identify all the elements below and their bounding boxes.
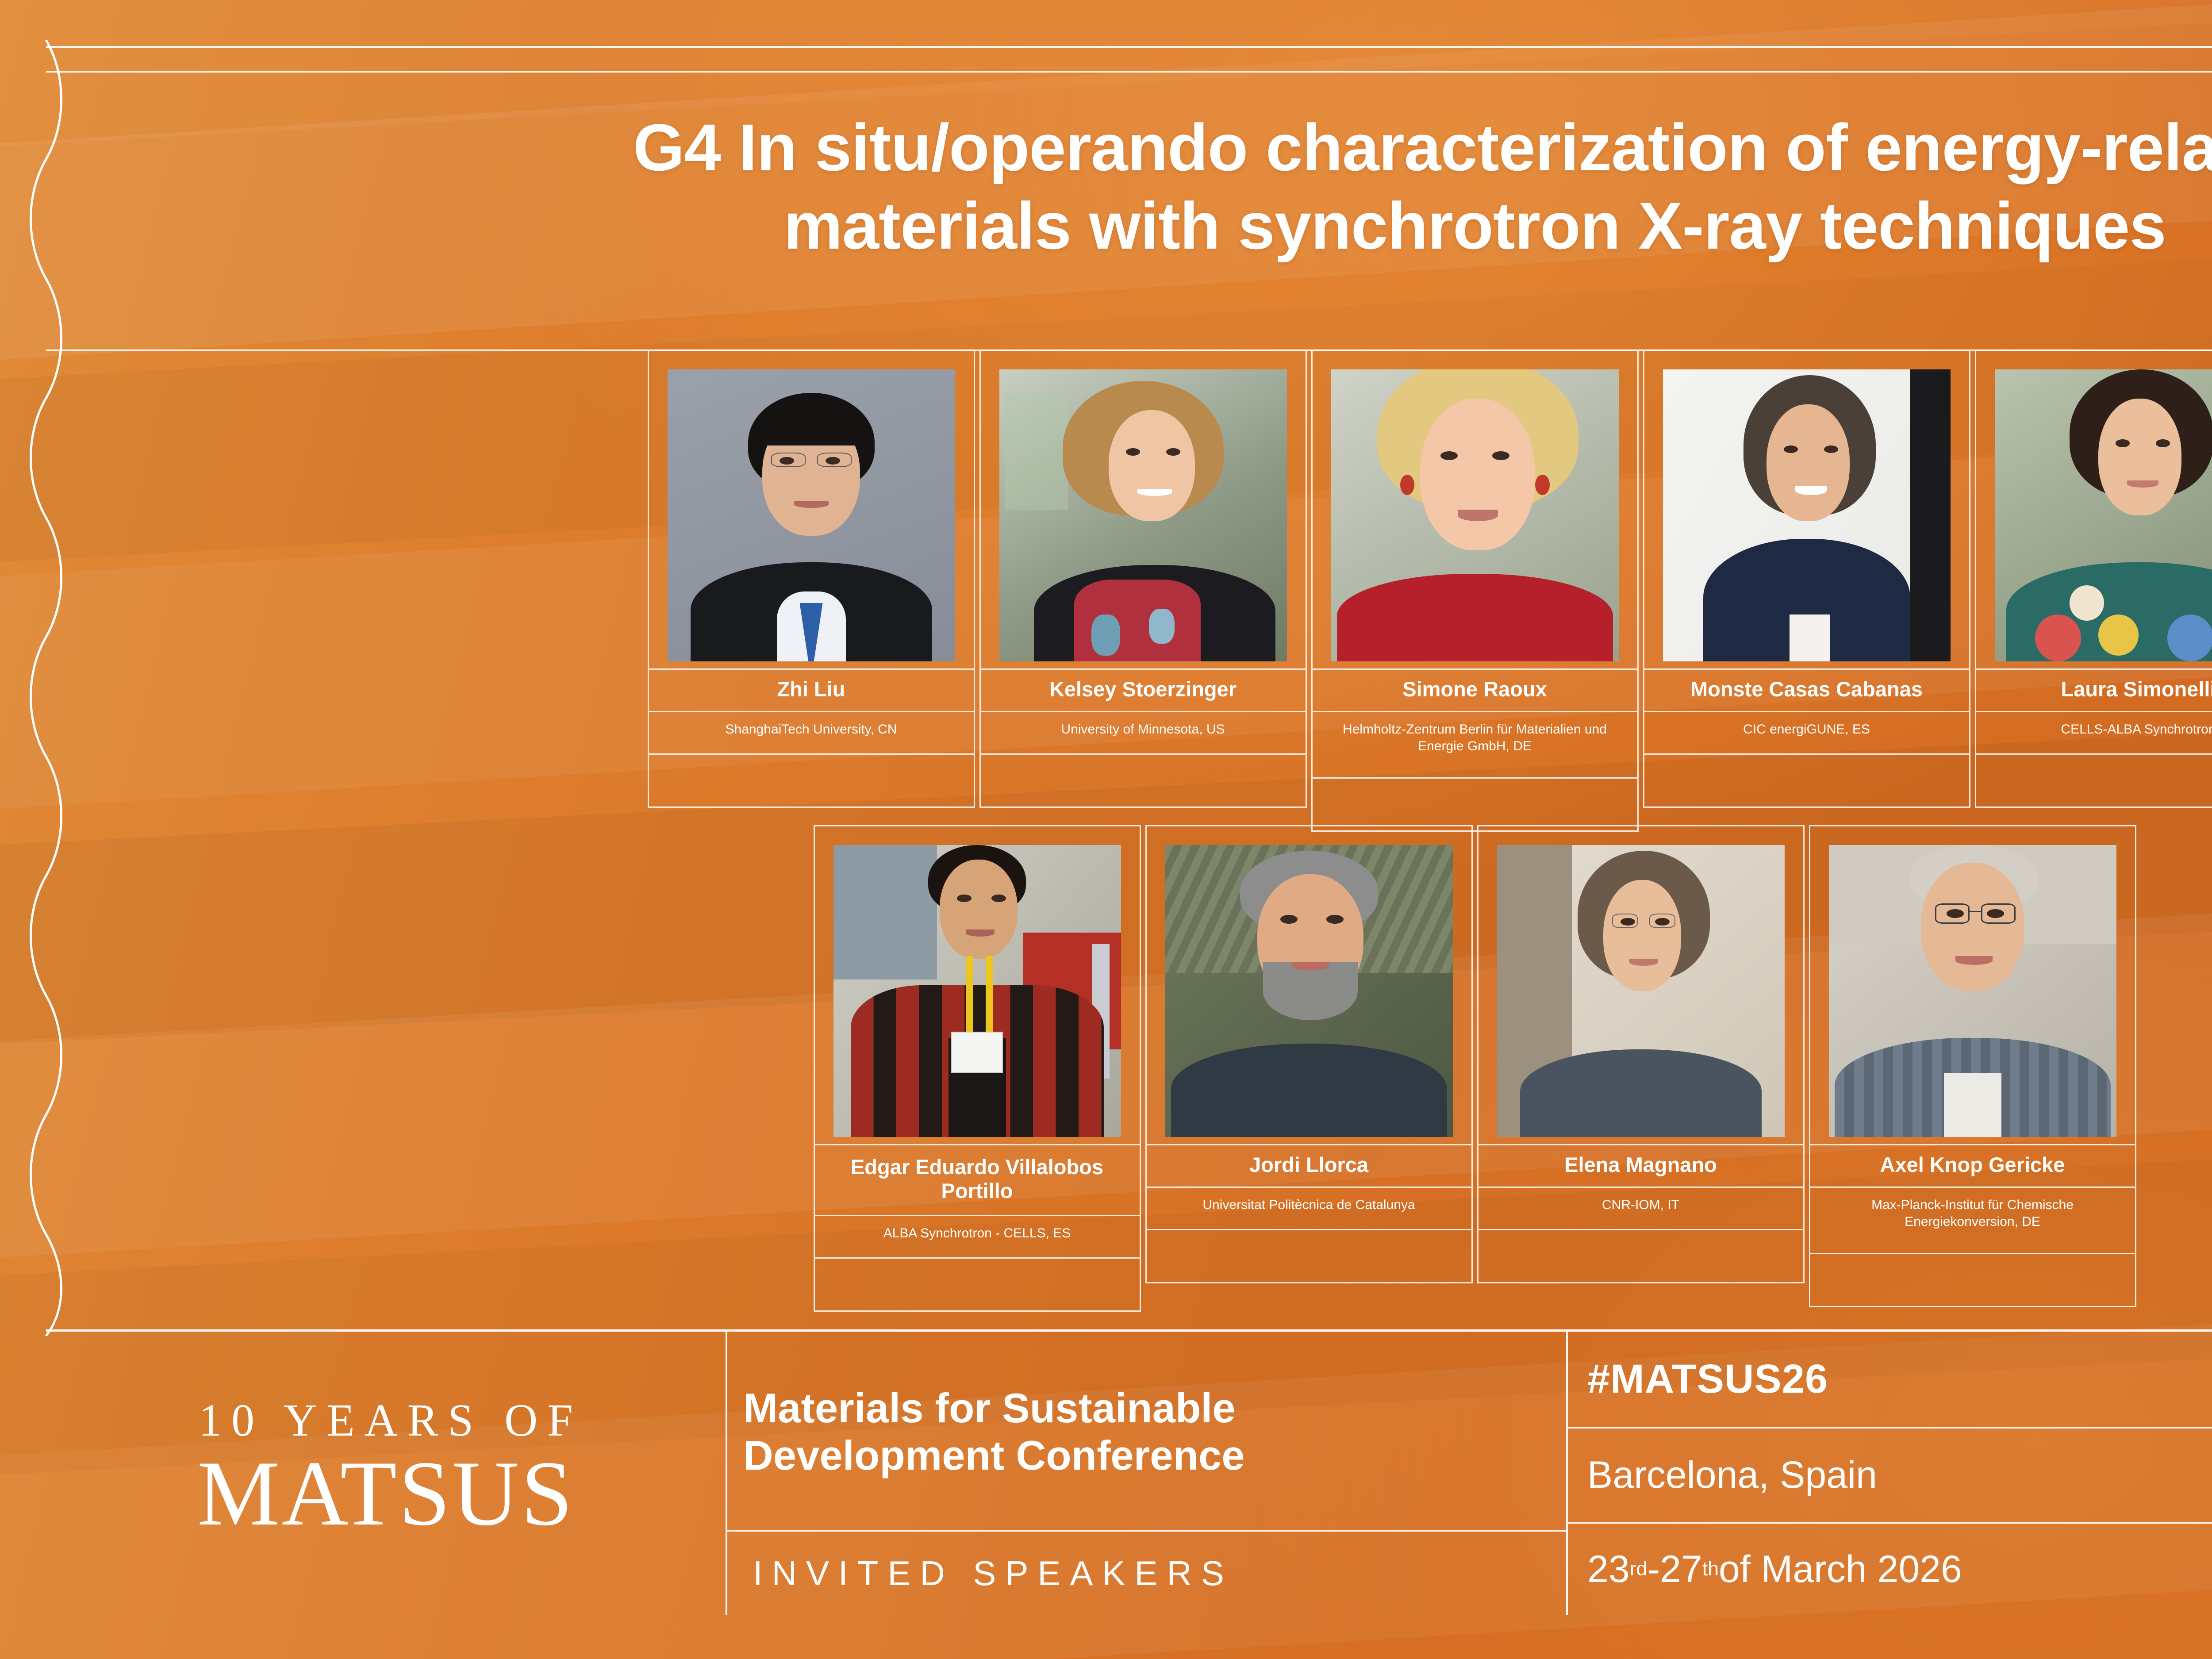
speaker-affiliation: CNR-IOM, IT — [1479, 1187, 1803, 1229]
speaker-card[interactable]: Jordi Llorca Universitat Politècnica de … — [1145, 825, 1473, 1283]
card-footer-space — [1976, 753, 2212, 806]
conference-name-column: Materials for Sustainable Development Co… — [727, 1332, 1568, 1615]
card-footer-space — [981, 753, 1306, 806]
session-title-line-2: materials with synchrotron X-ray techniq… — [435, 187, 2212, 265]
event-info-column: #MATSUS26 Barcelona, Spain 23rd - 27th o… — [1568, 1332, 2212, 1615]
card-footer-space — [649, 753, 974, 806]
speaker-photo — [1497, 845, 1785, 1137]
event-dates: 23rd - 27th of March 2026 — [1568, 1522, 2212, 1615]
speaker-card[interactable]: Kelsey Stoerzinger University of Minneso… — [979, 349, 1307, 808]
card-footer-space — [1147, 1229, 1471, 1282]
speaker-affiliation: CELLS-ALBA Synchrotron — [1976, 711, 2212, 753]
card-footer-space — [1313, 777, 1637, 830]
conference-name: Materials for Sustainable Development Co… — [727, 1332, 1566, 1530]
date-end: 27 — [1660, 1548, 1702, 1591]
speaker-affiliation: ShanghaiTech University, CN — [649, 711, 974, 753]
session-title-line-1: G4 In situ/operando characterization of … — [435, 108, 2212, 187]
speaker-name: Kelsey Stoerzinger — [981, 668, 1306, 711]
speaker-affiliation: CIC energiGUNE, ES — [1644, 711, 1969, 753]
speaker-name: Zhi Liu — [649, 668, 974, 711]
speaker-affiliation: Universitat Politècnica de Catalunya — [1147, 1187, 1471, 1229]
date-start-ordinal: rd — [1630, 1558, 1647, 1580]
date-tail: of March 2026 — [1719, 1548, 1962, 1591]
speaker-photo — [999, 369, 1287, 661]
poster-root: G4 In situ/operando characterization of … — [0, 0, 2212, 1659]
speaker-grid-row-2: Edgar Eduardo Villalobos Portillo ALBA S… — [0, 825, 2212, 1312]
conference-name-line-1: Materials for Sustainable — [743, 1384, 1245, 1432]
speaker-name: Edgar Eduardo Villalobos Portillo — [815, 1144, 1140, 1215]
speaker-photo — [1165, 845, 1453, 1137]
card-footer-space — [815, 1257, 1140, 1310]
speaker-photo — [1995, 369, 2212, 661]
session-title: G4 In situ/operando characterization of … — [435, 108, 2212, 265]
card-footer-space — [1810, 1253, 2135, 1306]
brand-wordmark: MATSUS — [197, 1446, 575, 1541]
speaker-name: Jordi Llorca — [1147, 1144, 1471, 1187]
speaker-name: Laura Simonelli — [1976, 668, 2212, 711]
conference-name-line-2: Development Conference — [743, 1432, 1245, 1479]
date-start: 23 — [1587, 1548, 1630, 1591]
event-location: Barcelona, Spain — [1568, 1427, 2212, 1522]
speaker-card[interactable]: Zhi Liu ShanghaiTech University, CN — [648, 349, 975, 808]
speaker-photo — [1829, 845, 2116, 1137]
event-hashtag: #MATSUS26 — [1568, 1332, 2212, 1427]
speaker-card[interactable]: Monste Casas Cabanas CIC energiGUNE, ES — [1643, 349, 1970, 808]
speaker-photo — [668, 369, 955, 661]
speaker-card[interactable]: Simone Raoux Helmholtz-Zentrum Berlin fü… — [1311, 349, 1639, 832]
speaker-photo — [1331, 369, 1619, 661]
speaker-card[interactable]: Elena Magnano CNR-IOM, IT — [1477, 825, 1805, 1283]
section-label: INVITED SPEAKERS — [727, 1530, 1566, 1615]
speaker-affiliation: Max-Planck-Institut für Chemische Energi… — [1810, 1187, 2135, 1253]
date-separator: - — [1647, 1548, 1660, 1591]
speaker-photo — [1663, 369, 1951, 661]
speaker-affiliation: University of Minnesota, US — [981, 711, 1306, 753]
speaker-name: Monste Casas Cabanas — [1644, 668, 1969, 711]
speaker-photo — [833, 845, 1121, 1137]
speaker-card[interactable]: Laura Simonelli CELLS-ALBA Synchrotron — [1975, 349, 2212, 808]
anniversary-line: 10 YEARS OF — [189, 1398, 583, 1444]
speaker-affiliation: Helmholtz-Zentrum Berlin für Materialien… — [1313, 711, 1637, 777]
speaker-affiliation: ALBA Synchrotron - CELLS, ES — [815, 1215, 1140, 1257]
speaker-card[interactable]: Axel Knop Gericke Max-Planck-Institut fü… — [1809, 825, 2136, 1307]
speaker-name: Axel Knop Gericke — [1810, 1144, 2135, 1187]
card-footer-space — [1644, 753, 1969, 806]
matsus-anniversary-logo: 10 YEARS OF MATSUS — [46, 1332, 727, 1615]
card-footer-space — [1479, 1229, 1803, 1282]
speaker-name: Elena Magnano — [1479, 1144, 1803, 1187]
speaker-card[interactable]: Edgar Eduardo Villalobos Portillo ALBA S… — [814, 825, 1141, 1312]
speaker-grid-row-1: Zhi Liu ShanghaiTech University, CN — [0, 349, 2212, 832]
date-end-ordinal: th — [1702, 1558, 1719, 1580]
speaker-name: Simone Raoux — [1313, 668, 1637, 711]
bottom-banner: 10 YEARS OF MATSUS Materials for Sustain… — [46, 1329, 2212, 1615]
